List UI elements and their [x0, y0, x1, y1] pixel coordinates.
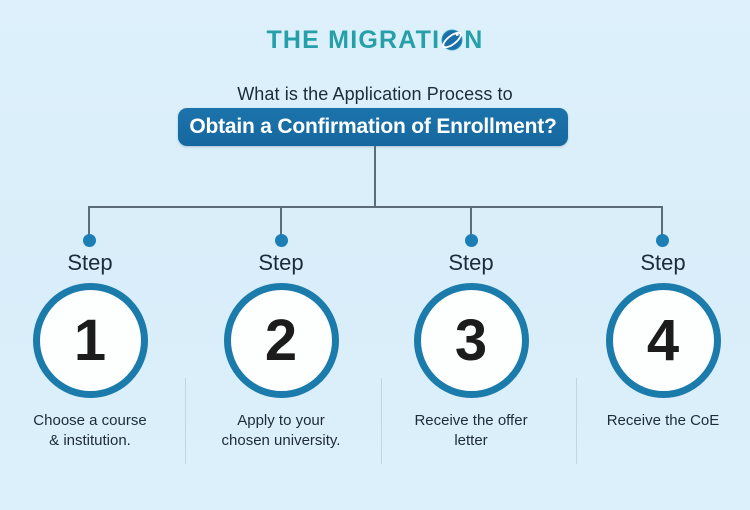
connector-dot-3 — [465, 234, 478, 247]
step-item-1[interactable]: Step 1 Choose a course & institution. — [0, 252, 185, 452]
step-caption-2: Apply to your chosen university. — [186, 411, 376, 452]
step-circle-1: 1 — [33, 283, 148, 398]
step-number-3: 3 — [455, 312, 487, 370]
infographic-canvas: THE MIGRATI N What is the Application Pr… — [0, 0, 750, 510]
step-caption-3: Receive the offer letter — [376, 411, 566, 452]
step-circle-4: 4 — [606, 283, 721, 398]
connector-dot-4 — [656, 234, 669, 247]
heading-banner: Obtain a Confirmation of Enrollment? — [178, 108, 568, 146]
brand-name-before: THE MIGRATI — [266, 26, 440, 55]
step-label-2: Step — [186, 252, 376, 274]
step-number-2: 2 — [265, 312, 297, 370]
connector-stem — [374, 146, 376, 208]
step-number-4: 4 — [647, 312, 679, 370]
heading-subtitle: What is the Application Process to — [0, 84, 750, 105]
step-label-4: Step — [568, 252, 750, 274]
heading-banner-text: Obtain a Confirmation of Enrollment? — [189, 115, 556, 139]
step-circle-2: 2 — [224, 283, 339, 398]
step-item-2[interactable]: Step 2 Apply to your chosen university. — [186, 252, 376, 452]
step-item-3[interactable]: Step 3 Receive the offer letter — [376, 252, 566, 452]
connector-dot-1 — [83, 234, 96, 247]
brand-name-after: N — [464, 26, 483, 55]
brand-logo: THE MIGRATI N — [0, 26, 750, 55]
step-caption-4: Receive the CoE — [568, 411, 750, 431]
step-circle-3: 3 — [414, 283, 529, 398]
step-label-3: Step — [376, 252, 566, 274]
step-item-4[interactable]: Step 4 Receive the CoE — [568, 252, 750, 431]
step-caption-1: Choose a course & institution. — [0, 411, 185, 452]
connector-horizontal-bar — [88, 206, 663, 208]
step-label-1: Step — [0, 252, 185, 274]
step-number-1: 1 — [74, 312, 106, 370]
connector-dot-2 — [275, 234, 288, 247]
globe-icon — [440, 28, 464, 52]
